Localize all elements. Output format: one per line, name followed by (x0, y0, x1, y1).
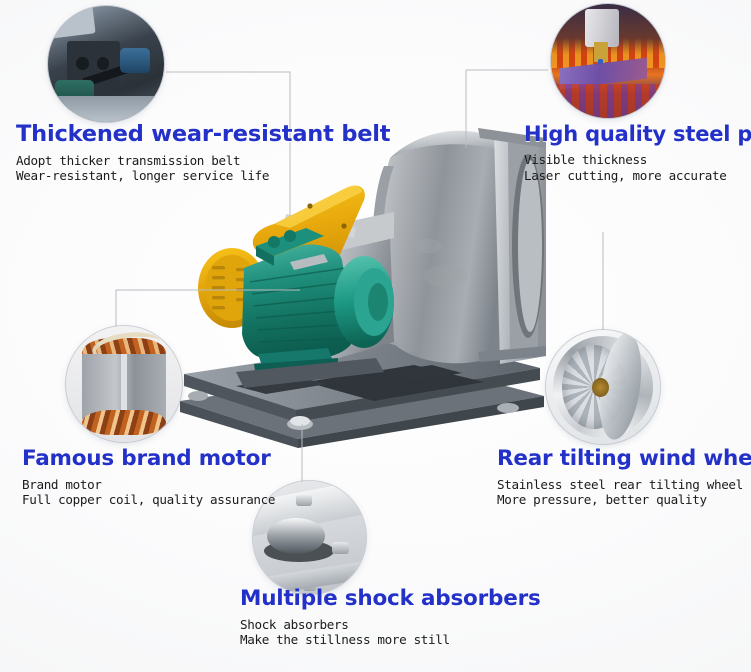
feature-subtitle-wind-wheel-2: More pressure, better quality (497, 492, 751, 508)
laser-cutting-photo (551, 4, 665, 118)
feature-rear-tilting-wind-wheel: Rear tilting wind wheel Stainless steel … (497, 448, 751, 508)
feature-multiple-shock-absorbers: Multiple shock absorbers Shock absorbers… (240, 588, 541, 648)
feature-title-wind-wheel: Rear tilting wind wheel (497, 448, 751, 470)
feature-thickened-wear-resistant-belt: Thickened wear-resistant belt Adopt thic… (16, 123, 390, 184)
thumb-famous-brand-motor[interactable] (66, 326, 182, 442)
feature-subtitle-shock-1: Shock absorbers (240, 617, 541, 633)
feature-famous-brand-motor: Famous brand motor Brand motor Full copp… (22, 448, 275, 508)
feature-subtitle-belt-1: Adopt thicker transmission belt (16, 153, 390, 169)
motor-stator-photo (66, 326, 182, 442)
feature-title-steel-plate: High quality steel plate (524, 124, 751, 145)
feature-title-shock-absorbers: Multiple shock absorbers (240, 588, 541, 610)
feature-subtitle-wind-wheel-1: Stainless steel rear tilting wheel (497, 477, 751, 493)
thumb-thickened-wear-resistant-belt[interactable] (48, 6, 164, 122)
impeller-wind-wheel-photo (546, 330, 660, 444)
thumb-high-quality-steel-plate[interactable] (551, 4, 665, 118)
feature-subtitle-motor-2: Full copper coil, quality assurance (22, 492, 275, 508)
feature-subtitle-steel-plate-1: Visible thickness (524, 152, 751, 168)
feature-high-quality-steel-plate: High quality steel plate Visible thickne… (524, 124, 751, 183)
feature-subtitle-motor-1: Brand motor (22, 477, 275, 493)
feature-title-motor: Famous brand motor (22, 448, 275, 470)
feature-subtitle-steel-plate-2: Laser cutting, more accurate (524, 168, 751, 184)
thumb-rear-tilting-wind-wheel[interactable] (546, 330, 660, 444)
feature-subtitle-shock-2: Make the stillness more still (240, 632, 541, 648)
feature-title-belt: Thickened wear-resistant belt (16, 123, 390, 146)
feature-subtitle-belt-2: Wear-resistant, longer service life (16, 168, 390, 184)
belt-drive-photo (48, 6, 164, 122)
infographic-canvas: Thickened wear-resistant belt Adopt thic… (0, 0, 751, 672)
